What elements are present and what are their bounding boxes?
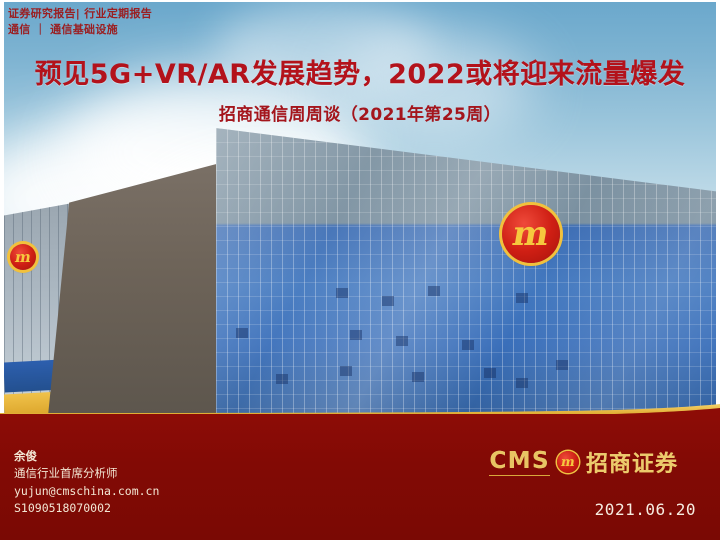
tower-panel [428, 286, 440, 296]
tower-panel [396, 336, 408, 346]
tower-panel [276, 374, 288, 384]
tower-panel [556, 360, 568, 370]
analyst-email[interactable]: yujun@cmschina.com.cn [14, 483, 159, 500]
tower-reflection-sheen [216, 128, 716, 414]
stone-block-building [48, 162, 224, 414]
tower-panel [412, 372, 424, 382]
analyst-role: 通信行业首席分析师 [14, 465, 159, 482]
cms-logo: CMS m 招商证券 [489, 446, 678, 478]
report-kicker: 证券研究报告| 行业定期报告 通信 ｜ 通信基础设施 [8, 6, 428, 38]
building-emblem-main: m [502, 205, 560, 263]
building-emblem-main-glyph: m [510, 217, 552, 251]
tower-panel [350, 330, 362, 340]
analyst-info: 余俊 通信行业首席分析师 yujun@cmschina.com.cn S1090… [14, 448, 159, 518]
tower-panel [382, 296, 394, 306]
tower-panel [516, 378, 528, 388]
analyst-name: 余俊 [14, 448, 159, 465]
cms-logo-chinese: 招商证券 [586, 446, 678, 478]
report-cover-slide: m [0, 0, 720, 540]
analyst-license: S1090518070002 [14, 500, 159, 517]
tower-panel [462, 340, 474, 350]
kicker-line-1: 证券研究报告| 行业定期报告 [8, 6, 428, 22]
page-subtitle: 招商通信周周谈（2021年第25周） [0, 100, 720, 125]
tower-panel [236, 328, 248, 338]
tower-panel [336, 288, 348, 298]
cms-logo-text: CMS [489, 448, 550, 476]
cms-logo-mark-glyph: m [560, 455, 576, 470]
tower-panel [516, 293, 528, 303]
tower-panel [484, 368, 496, 378]
page-title: 预见5G+VR/AR发展趋势，2022或将迎来流量爆发 [0, 52, 720, 91]
main-glass-tower [216, 128, 716, 414]
report-date: 2021.06.20 [595, 500, 696, 519]
cms-logo-mark-icon: m [557, 451, 579, 473]
building-emblem-left: m [10, 244, 36, 270]
kicker-line-2: 通信 ｜ 通信基础设施 [8, 22, 428, 38]
tower-panel [340, 366, 352, 376]
title-block: 预见5G+VR/AR发展趋势，2022或将迎来流量爆发 招商通信周周谈（2021… [0, 52, 720, 125]
building-emblem-left-glyph: m [14, 250, 33, 265]
